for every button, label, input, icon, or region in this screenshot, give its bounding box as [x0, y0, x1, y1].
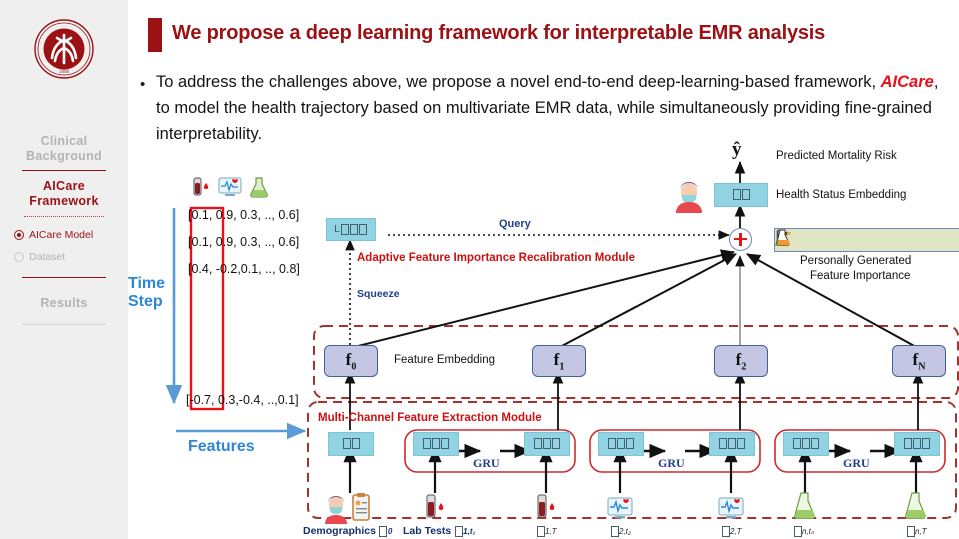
sidebar: 1898 Clinical Background AICare Framewor…: [0, 0, 128, 539]
hidden-state-box-1-t1: [413, 432, 459, 456]
axis-label-step: Step: [128, 293, 165, 311]
sidebar-section-clinical-background[interactable]: Clinical Background: [0, 134, 128, 164]
sidebar-section-aicare-framework-line2: Framework: [0, 194, 128, 209]
bottom-label-2-T-sub: 2,T: [730, 527, 742, 536]
squeeze-label: Squeeze: [357, 288, 400, 300]
sidebar-section-aicare-framework-line1: AICare: [0, 179, 128, 194]
matrix-row-2: [0.1, 0.9, 0.3, .., 0.6]: [188, 235, 299, 249]
feature-embedding-label: Feature Embedding: [394, 354, 495, 366]
hidden-state-box-2-t2: [598, 432, 644, 456]
feature-box-f0-text: f0: [346, 350, 357, 372]
bottom-label-demographics-text: Demographics: [303, 525, 376, 537]
afir-module-label: Adaptive Feature Importance Recalibratio…: [357, 252, 635, 264]
fi-panel-label-line1: Personally Generated: [800, 255, 911, 267]
output-yhat-symbol: ŷ: [732, 139, 742, 161]
bottom-label-lab-tests-sub: 1,t₁: [463, 527, 475, 536]
feature-box-f1-text: f1: [554, 350, 565, 372]
gru-label-1: GRU: [473, 456, 500, 471]
bottom-label-lab-tests: Lab Tests 1,t₁: [403, 525, 475, 537]
bottom-label-demographics-sub: 0: [388, 527, 392, 536]
beaker-icon: [775, 229, 792, 246]
sidebar-section-aicare-framework[interactable]: AICare Framework: [0, 179, 128, 209]
matrix-row-1: [0.1, 0.9, 0.3, .., 0.6]: [188, 208, 299, 222]
bottom-label-2-T: 2,T: [721, 526, 742, 537]
sidebar-divider-dotted: [24, 216, 104, 217]
hidden-state-box-n-tn: [783, 432, 829, 456]
axis-label-time-step: Time Step: [128, 275, 165, 311]
sidebar-item-dataset[interactable]: Dataset: [14, 249, 128, 265]
health-status-embedding-box: [714, 183, 768, 207]
sidebar-item-aicare-model-label: AICare Model: [29, 229, 93, 241]
matrix-row-3: [0.4, -0.2,0.1, .., 0.8]: [188, 262, 300, 276]
sidebar-section-clinical-background-line2: Background: [0, 149, 128, 164]
mcfe-module-label: Multi-Channel Feature Extraction Module: [318, 412, 542, 424]
feature-embedding-box-f1: f1: [532, 345, 586, 377]
feature-embedding-box-f0: f0: [324, 345, 378, 377]
body-paragraph: To address the challenges above, we prop…: [156, 69, 956, 147]
feature-embedding-box-f2: f2: [714, 345, 768, 377]
sidebar-divider-2: [22, 277, 106, 278]
sidebar-item-dataset-label: Dataset: [29, 251, 65, 263]
attention-arrow-f0: [350, 252, 734, 348]
sidebar-divider-3: [22, 324, 106, 325]
bottom-label-2-t2-sub: 2,t₂: [619, 527, 631, 536]
hidden-state-box-1-T: [524, 432, 570, 456]
feature-embedding-box-fn: fN: [892, 345, 946, 377]
sidebar-section-clinical-background-line1: Clinical: [0, 134, 128, 149]
bullet-marker: •: [140, 76, 145, 93]
personal-feature-importance-panel: [774, 228, 959, 252]
hidden-state-box-n-T: [894, 432, 940, 456]
architecture-diagram: [0.1, 0.9, 0.3, .., 0.6] [0.1, 0.9, 0.3,…: [128, 140, 959, 539]
fi-panel-label-line2: Feature Importance: [810, 270, 910, 282]
bottom-label-n-T: n,T: [906, 526, 927, 537]
bottom-label-demographics: Demographics 0: [303, 525, 392, 537]
radio-selected-icon[interactable]: [14, 230, 24, 240]
feature-box-f2-text: f2: [736, 350, 747, 372]
attention-arrow-f1: [558, 254, 736, 348]
matrix-row-4: [-0.7, 0.3,-0.4, ..,0.1]: [186, 393, 299, 407]
svg-text:1898: 1898: [59, 70, 70, 75]
sidebar-divider-1: [22, 170, 106, 171]
axis-label-features: Features: [188, 438, 255, 456]
predicted-mortality-risk-label: Predicted Mortality Risk: [776, 150, 897, 162]
feature-box-fn-text: fN: [913, 350, 926, 372]
gru-label-2: GRU: [658, 456, 685, 471]
gru-label-3: GRU: [843, 456, 870, 471]
bottom-label-lab-tests-text: Lab Tests: [403, 525, 451, 537]
hidden-state-box-2-T: [709, 432, 755, 456]
bottom-label-n-T-sub: n,T: [915, 527, 927, 536]
bottom-label-1-T: 1,T: [536, 526, 557, 537]
body-text-part1: To address the challenges above, we prop…: [156, 73, 881, 91]
hidden-state-box-demographics: [328, 432, 374, 456]
sidebar-section-results[interactable]: Results: [0, 296, 128, 311]
query-label: Query: [499, 218, 531, 230]
bottom-label-n-tn-sub: n,tₙ: [802, 527, 814, 536]
body-highlight-aicare: AICare: [881, 73, 934, 91]
peking-university-seal-icon: 1898: [33, 18, 95, 80]
title-accent-bar: [148, 18, 162, 52]
sidebar-section-results-label: Results: [0, 296, 128, 311]
axis-label-time: Time: [128, 275, 165, 293]
health-status-embedding-label: Health Status Embedding: [776, 189, 906, 201]
page-title: We propose a deep learning framework for…: [172, 22, 952, 45]
bottom-label-2-t2: 2,t₂: [610, 526, 631, 537]
radio-unselected-icon[interactable]: [14, 252, 24, 262]
squeeze-output-box: L: [326, 218, 376, 241]
bottom-label-1-T-sub: 1,T: [545, 527, 557, 536]
aggregation-plus-node: [729, 228, 752, 251]
sidebar-item-aicare-model[interactable]: AICare Model: [14, 227, 128, 243]
bottom-label-n-tn: n,tₙ: [793, 526, 814, 537]
attention-arrow-fn: [747, 254, 918, 348]
